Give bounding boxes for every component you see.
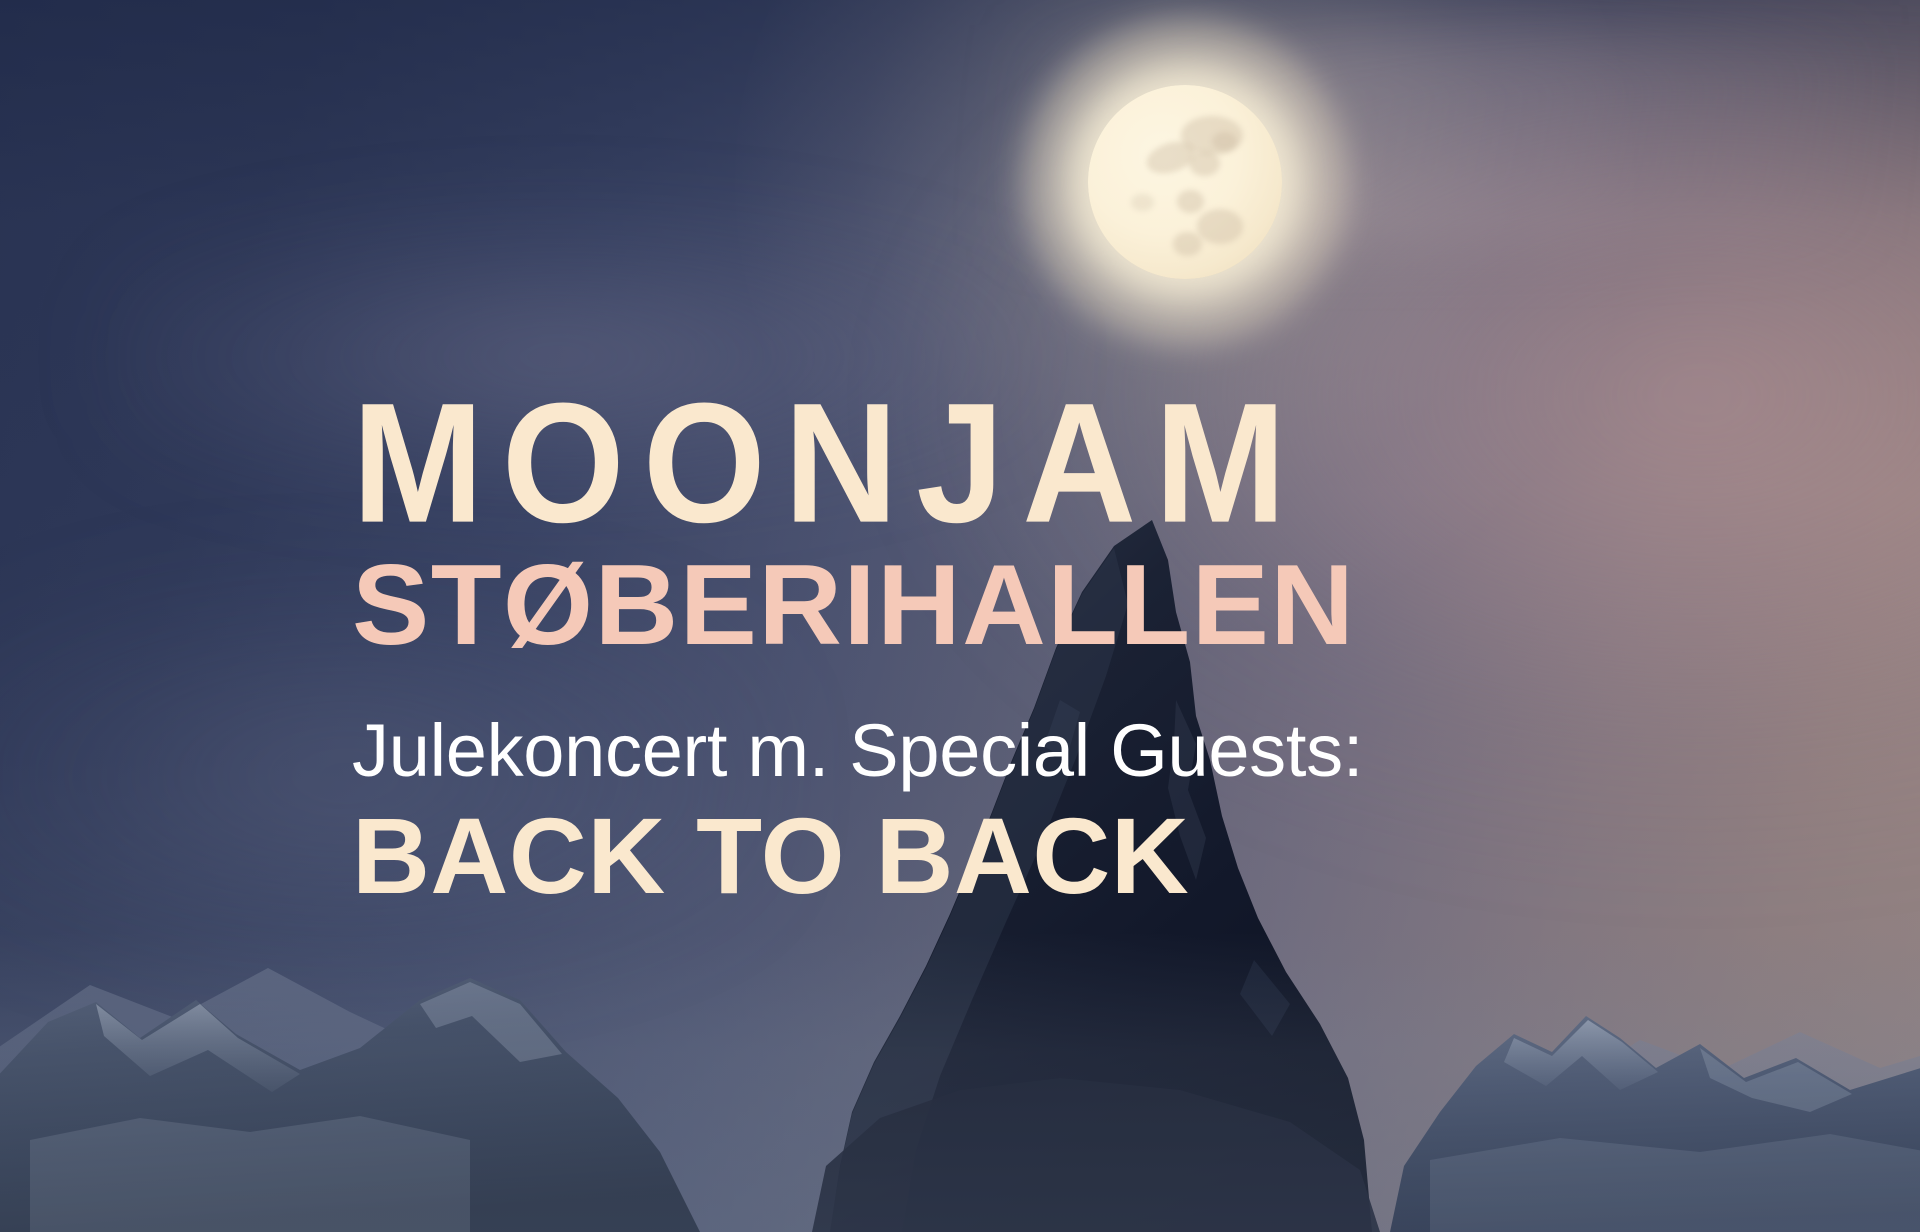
moon-crater	[1197, 209, 1244, 244]
concert-poster: MOONJAM STØBERIHALLEN Julekoncert m. Spe…	[0, 0, 1920, 1232]
moon-crater	[1212, 132, 1237, 151]
venue-name: STØBERIHALLEN	[352, 548, 1656, 662]
full-moon-icon	[1088, 85, 1282, 279]
event-subtitle: Julekoncert m. Special Guests:	[352, 714, 1612, 788]
moon-crater	[1189, 151, 1220, 176]
moon-crater	[1173, 232, 1202, 255]
poster-text-block: MOONJAM STØBERIHALLEN Julekoncert m. Spe…	[352, 378, 1612, 910]
moon-crater	[1131, 194, 1154, 211]
special-guest-name: BACK TO BACK	[352, 802, 1612, 910]
artist-headline: MOONJAM	[352, 378, 1612, 549]
moon-crater	[1177, 190, 1204, 213]
